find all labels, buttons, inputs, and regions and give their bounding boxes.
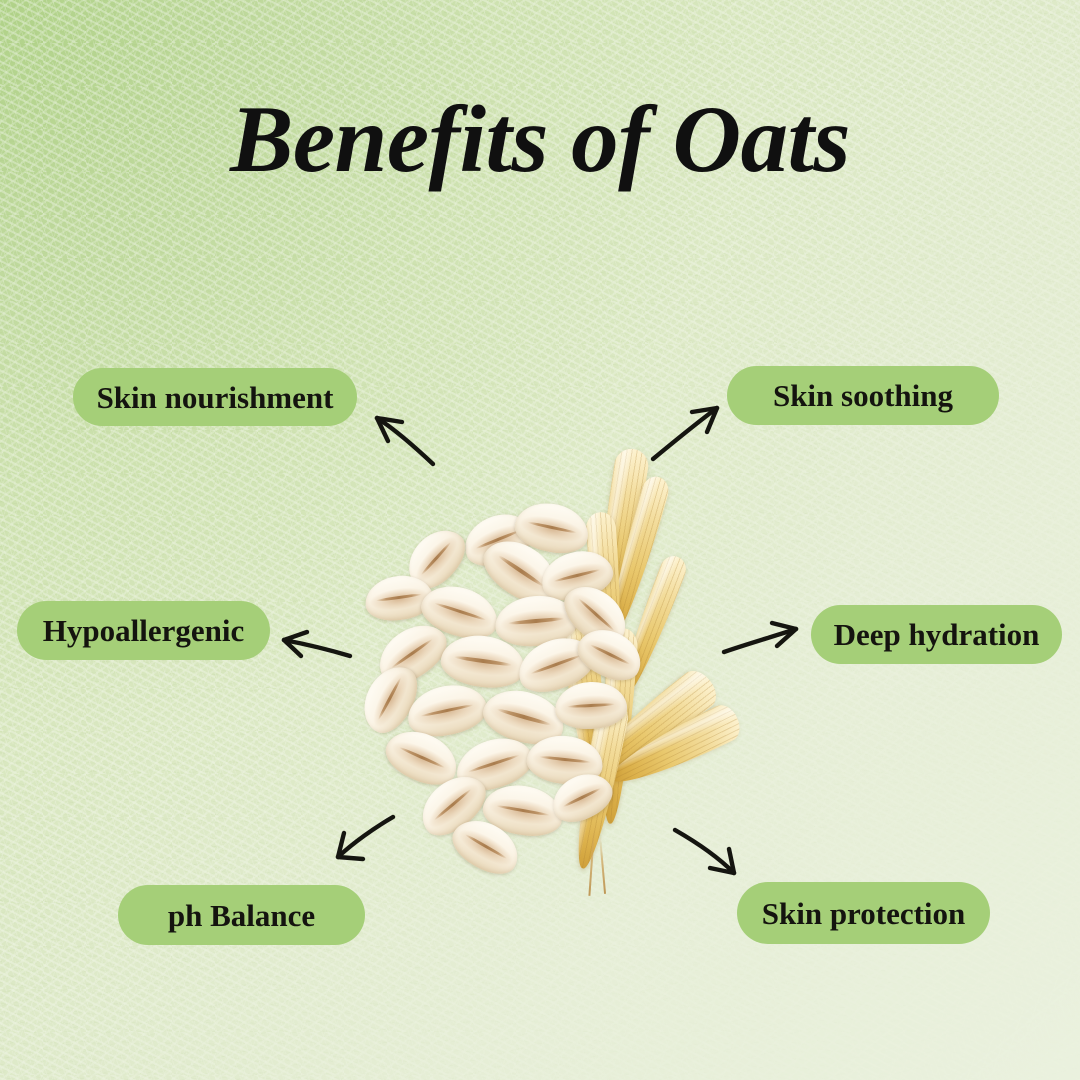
page-title: Benefits of Oats [0, 92, 1080, 187]
benefit-label: ph Balance [168, 900, 315, 931]
oat-awn [599, 836, 606, 894]
benefit-label: Skin protection [762, 898, 966, 929]
benefit-pill-skin-soothing[interactable]: Skin soothing [727, 366, 999, 425]
arrow-to-skin-soothing [653, 408, 717, 459]
benefit-pill-ph-balance[interactable]: ph Balance [118, 885, 365, 945]
benefit-pill-hypoallergenic[interactable]: Hypoallergenic [17, 601, 270, 660]
poster-canvas: Benefits of Oats [0, 0, 1080, 1080]
benefit-label: Deep hydration [834, 619, 1040, 650]
benefit-label: Skin nourishment [97, 382, 334, 413]
benefit-pill-skin-protection[interactable]: Skin protection [737, 882, 990, 944]
arrow-to-skin-nourishment [377, 418, 433, 464]
benefit-pill-deep-hydration[interactable]: Deep hydration [811, 605, 1062, 664]
benefit-pill-skin-nourishment[interactable]: Skin nourishment [73, 368, 357, 426]
arrow-to-hypoallergenic [284, 632, 350, 656]
oats-illustration [355, 500, 755, 920]
benefit-label: Hypoallergenic [43, 615, 244, 646]
benefit-label: Skin soothing [773, 380, 953, 411]
